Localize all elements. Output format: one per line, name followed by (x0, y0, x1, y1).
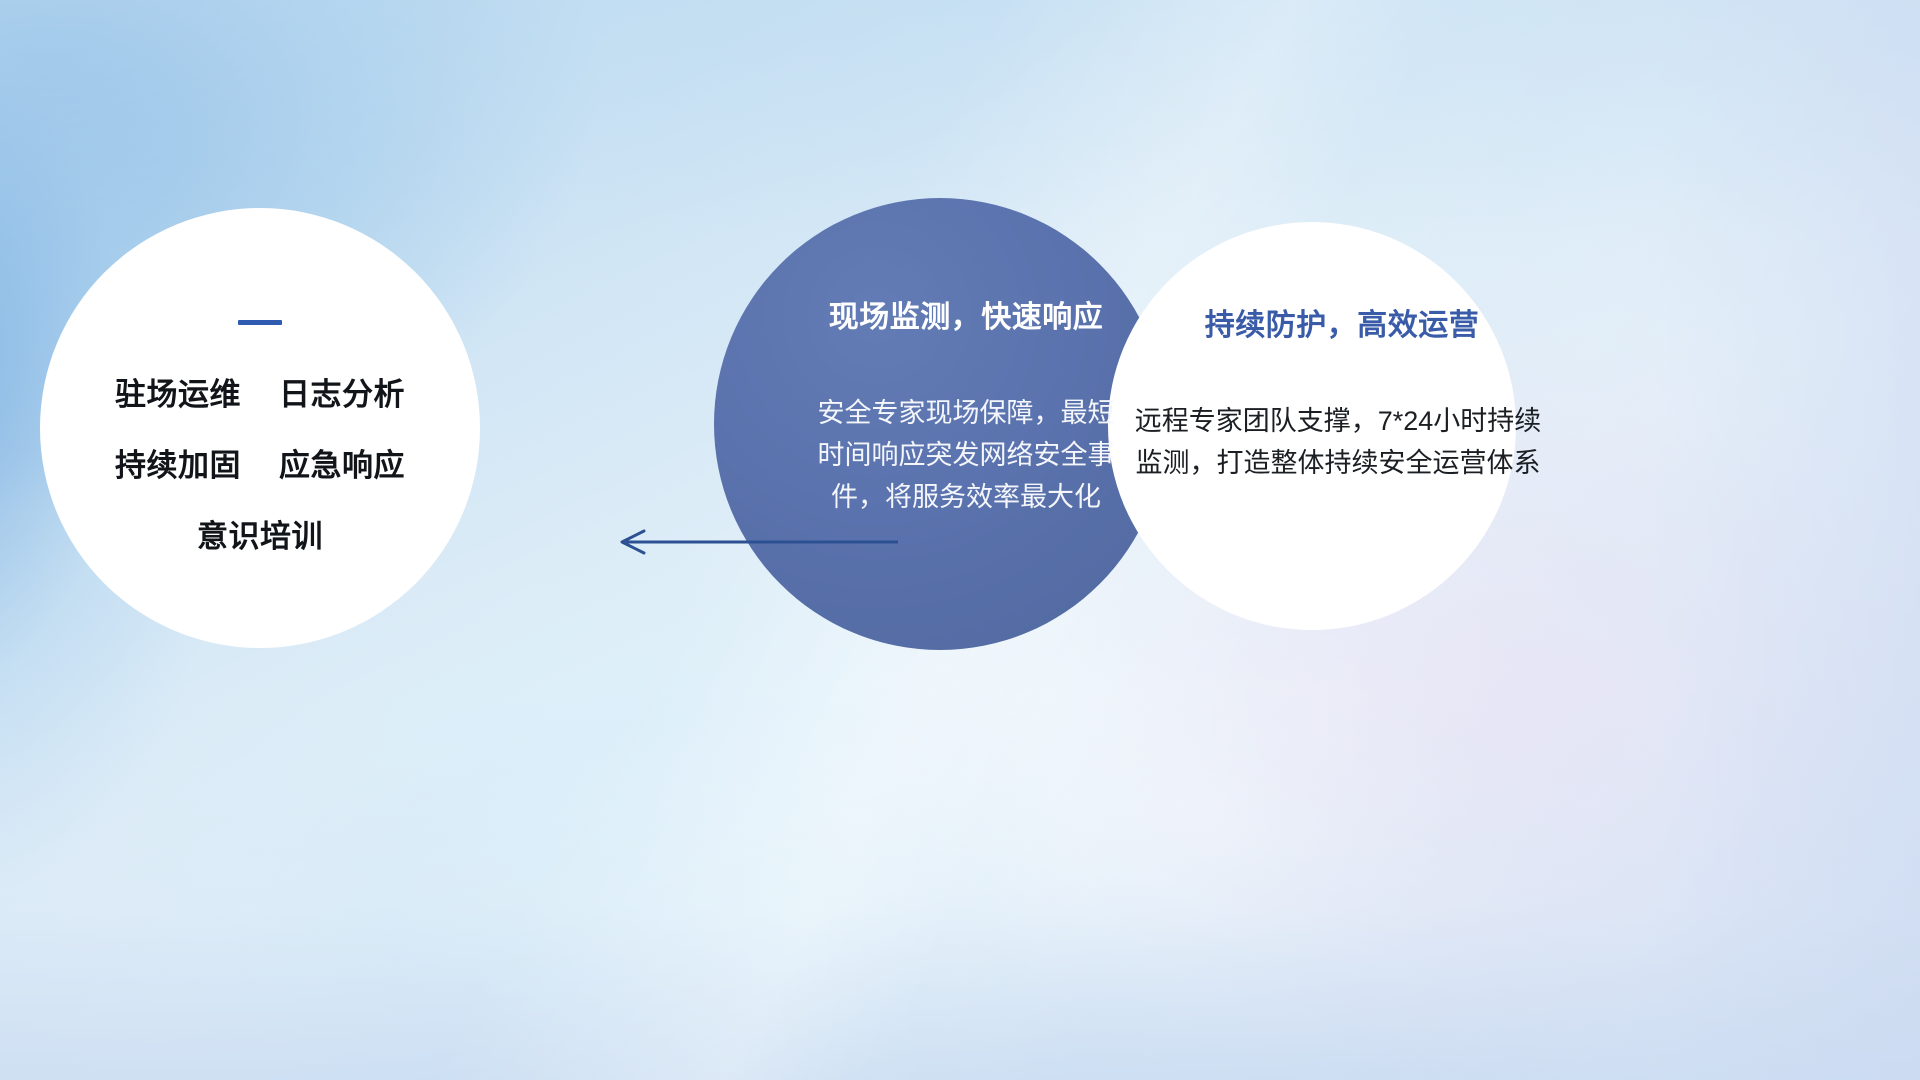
keyword-continuous-hardening[interactable]: 持续加固 (115, 440, 241, 485)
center-circle-title: 现场监测，快速响应 (829, 292, 1104, 336)
keyword-awareness-training[interactable]: 意识培训 (197, 511, 323, 556)
right-circle-description: 远程专家团队支撑，7*24小时持续监测，打造整体持续安全运营体系 (1128, 400, 1548, 484)
right-circle-title: 持续防护，高效运营 (1205, 300, 1480, 344)
keyword-log-analysis[interactable]: 日志分析 (279, 369, 405, 414)
center-circle-description: 安全专家现场保障，最短时间响应突发网络安全事件，将服务效率最大化 (816, 392, 1116, 518)
keyword-onsite-ops[interactable]: 驻场运维 (115, 369, 241, 414)
slide-canvas: 驻场运维 日志分析 持续加固 应急响应 意识培训 现场监测，快速响应 安全专家现… (0, 0, 1920, 1080)
list-item: 持续加固 应急响应 (115, 440, 405, 485)
flow-arrow-left-icon (600, 512, 900, 572)
list-item: 意识培训 (197, 511, 323, 556)
list-item: 驻场运维 日志分析 (115, 369, 405, 414)
keyword-emergency-response[interactable]: 应急响应 (279, 440, 405, 485)
left-circle-keyword-list: 驻场运维 日志分析 持续加固 应急响应 意识培训 (115, 369, 405, 556)
